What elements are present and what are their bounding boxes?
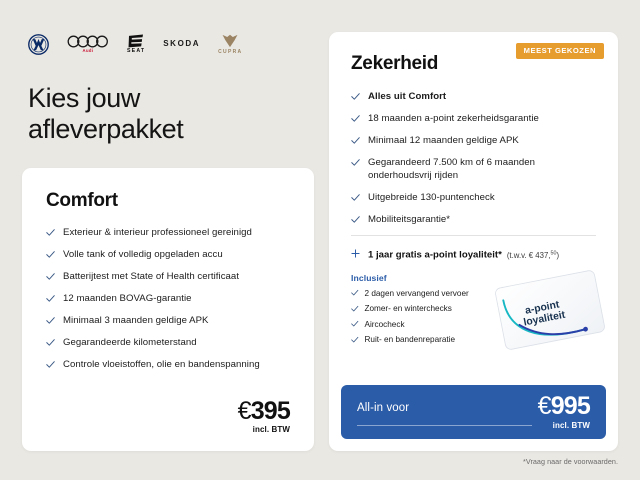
loyalty-text-wrap: 1 jaar gratis a-point loyaliteit*(t.w.v.… (368, 247, 559, 262)
list-item: Minimaal 12 maanden geldige APK (351, 134, 596, 147)
page-title-line1: Kies jouw (28, 83, 140, 113)
list-item-label: Gegarandeerde kilometerstand (63, 336, 197, 349)
check-icon (46, 294, 55, 303)
allin-underline (357, 425, 532, 426)
allin-price: €995 (538, 394, 590, 419)
page-title: Kies jouw afleverpakket (28, 83, 298, 145)
allin-label: All-in voor (357, 402, 409, 414)
audi-wordmark: Audi (83, 49, 94, 53)
seat-logo: SEAT (127, 34, 145, 55)
check-icon (46, 316, 55, 325)
list-item: 2 dagen vervangend vervoer (351, 288, 586, 299)
list-item-label: 18 maanden a-point zekerheidsgarantie (368, 112, 539, 125)
currency-symbol: € (238, 397, 251, 425)
plus-icon (351, 249, 360, 258)
comfort-price: €395 (238, 398, 290, 424)
list-item-label: Aircocheck (365, 319, 405, 330)
check-icon (351, 158, 360, 167)
list-item: Alles uit Comfort (351, 90, 596, 103)
check-icon (351, 320, 359, 328)
check-icon (46, 360, 55, 369)
skoda-wordmark: SKODA (163, 40, 200, 48)
zekerheid-header: MEEST GEKOZEN Zekerheid (329, 32, 618, 75)
loyalty-value: (t.w.v. € 437,50) (507, 251, 559, 260)
list-item: Gegarandeerde kilometerstand (46, 336, 290, 349)
check-icon (351, 336, 359, 344)
package-card-comfort[interactable]: Comfort Exterieur & interieur profession… (22, 168, 314, 451)
comfort-price-block: €395 incl. BTW (238, 398, 290, 434)
list-item-label: Gegarandeerd 7.500 km of 6 maanden onder… (368, 156, 596, 182)
volkswagen-icon (28, 34, 49, 55)
check-icon (351, 92, 360, 101)
list-item-label: Exterieur & interieur professioneel gere… (63, 226, 252, 239)
list-item-label: Controle vloeistoffen, olie en bandenspa… (63, 358, 260, 371)
allin-price-amount: 995 (551, 392, 590, 420)
cupra-wordmark: CUPRA (218, 50, 242, 55)
inclusief-title: Inclusief (351, 273, 586, 283)
currency-symbol: € (538, 392, 551, 420)
comfort-price-note: incl. BTW (238, 425, 290, 434)
loyalty-label: 1 jaar gratis a-point loyaliteit* (368, 250, 502, 261)
page-title-line2: afleverpakket (28, 114, 183, 144)
status-badge: MEEST GEKOZEN (516, 43, 604, 59)
list-item: Zomer- en winterchecks (351, 303, 586, 314)
list-item-label: Volle tank of volledig opgeladen accu (63, 248, 223, 261)
loyalty-row: 1 jaar gratis a-point loyaliteit*(t.w.v.… (351, 247, 596, 262)
check-icon (351, 114, 360, 123)
list-item-label: Uitgebreide 130-puntencheck (368, 191, 495, 204)
list-item-label: Alles uit Comfort (368, 90, 446, 103)
allin-price-block: €995 incl. BTW (538, 394, 590, 430)
list-item-label: Minimaal 3 maanden geldige APK (63, 314, 209, 327)
seat-wordmark: SEAT (127, 49, 145, 54)
list-item-label: 12 maanden BOVAG-garantie (63, 292, 192, 305)
list-item: Exterieur & interieur professioneel gere… (46, 226, 290, 239)
list-item: Batterijtest met State of Health certifi… (46, 270, 290, 283)
list-item: Uitgebreide 130-puntencheck (351, 191, 596, 204)
list-item: Controle vloeistoffen, olie en bandenspa… (46, 358, 290, 371)
list-item-label: Ruit- en bandenreparatie (365, 334, 456, 345)
audi-logo: Audi (67, 35, 109, 53)
comfort-title: Comfort (46, 190, 290, 212)
inclusief-list: 2 dagen vervangend vervoer Zomer- en win… (351, 288, 586, 346)
inclusief-block: Inclusief 2 dagen vervangend vervoer Zom… (351, 273, 586, 346)
brand-logo-bar: Audi SEAT SKODA CUPRA (28, 31, 242, 57)
list-item: Aircocheck (351, 319, 586, 330)
list-item: Ruit- en bandenreparatie (351, 334, 586, 345)
allin-price-note: incl. BTW (538, 421, 590, 430)
list-item: Mobiliteitsgarantie* (351, 213, 596, 226)
check-icon (46, 250, 55, 259)
check-icon (351, 289, 359, 297)
loyalty-value-prefix: (t.w.v. € 437, (507, 251, 551, 260)
check-icon (351, 193, 360, 202)
list-item-label: Minimaal 12 maanden geldige APK (368, 134, 519, 147)
cupra-icon (221, 34, 239, 48)
volkswagen-logo (28, 34, 49, 55)
zekerheid-feature-list: Alles uit Comfort 18 maanden a-point zek… (351, 90, 596, 226)
loyalty-value-suffix: ) (556, 251, 559, 260)
list-item-label: Mobiliteitsgarantie* (368, 213, 450, 226)
audi-rings-icon (67, 35, 109, 48)
list-item: 12 maanden BOVAG-garantie (46, 292, 290, 305)
package-card-zekerheid[interactable]: MEEST GEKOZEN Zekerheid Alles uit Comfor… (329, 32, 618, 451)
seat-icon (128, 34, 144, 48)
list-item: Minimaal 3 maanden geldige APK (46, 314, 290, 327)
divider (351, 235, 596, 236)
zekerheid-body: Alles uit Comfort 18 maanden a-point zek… (329, 90, 618, 262)
comfort-feature-list: Exterieur & interieur professioneel gere… (46, 226, 290, 371)
list-item-label: 2 dagen vervangend vervoer (365, 288, 469, 299)
cupra-logo: CUPRA (218, 34, 242, 55)
list-item: Gegarandeerd 7.500 km of 6 maanden onder… (351, 156, 596, 182)
allin-label-wrap: All-in voor (357, 385, 538, 439)
list-item-label: Zomer- en winterchecks (365, 303, 452, 314)
check-icon (351, 215, 360, 224)
check-icon (351, 305, 359, 313)
check-icon (46, 272, 55, 281)
comfort-price-amount: 395 (251, 397, 290, 425)
skoda-logo: SKODA (163, 40, 200, 48)
list-item: Volle tank of volledig opgeladen accu (46, 248, 290, 261)
list-item-label: Batterijtest met State of Health certifi… (63, 270, 239, 283)
check-icon (351, 136, 360, 145)
list-item: 18 maanden a-point zekerheidsgarantie (351, 112, 596, 125)
check-icon (46, 338, 55, 347)
check-icon (46, 228, 55, 237)
allin-price-bar: All-in voor €995 incl. BTW (341, 385, 606, 439)
footnote: *Vraag naar de voorwaarden. (523, 457, 618, 466)
